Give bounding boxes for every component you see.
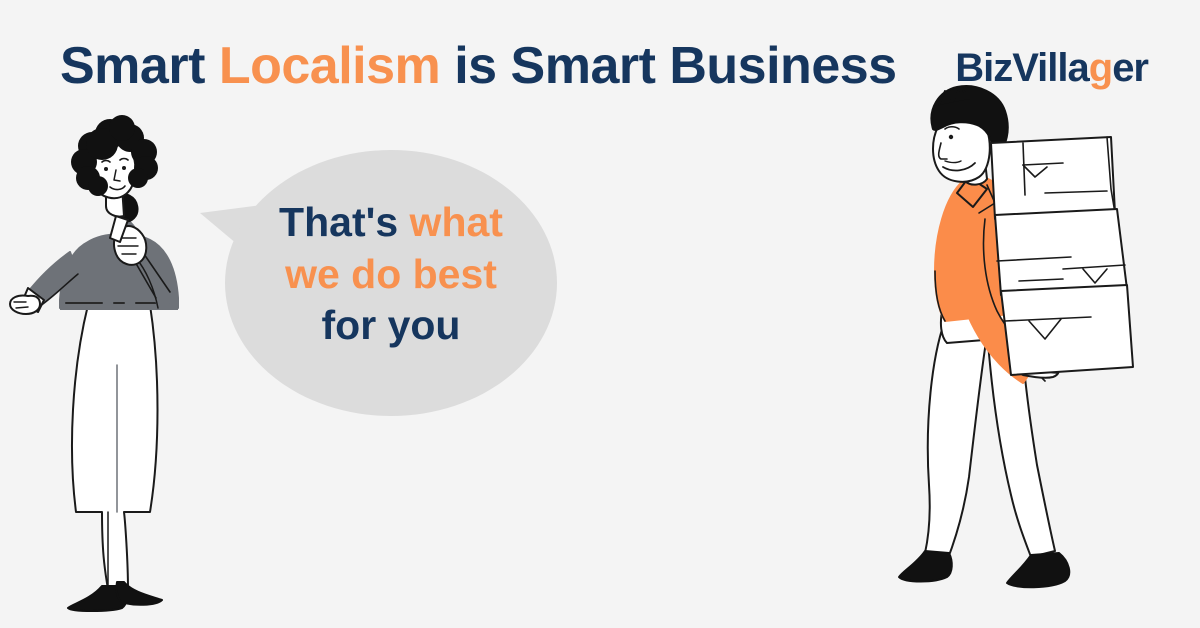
woman-svg [10, 120, 240, 610]
woman-open-hand [10, 295, 40, 314]
man-shoe-back [899, 551, 952, 582]
box-middle [995, 209, 1127, 295]
illustration-man-carrying-boxes [895, 85, 1145, 620]
speech-bubble-line-3: for you [225, 300, 557, 352]
woman-eye-right [122, 166, 126, 170]
speech-bubble-text: That's what we do best for you [225, 197, 557, 352]
speech-bubble-line-2: we do best [225, 249, 557, 301]
woman-trousers [72, 305, 158, 590]
speech-line1-navy: That's [279, 199, 410, 245]
headline-part-1: Smart [60, 37, 219, 95]
man-eye [949, 135, 953, 139]
marketing-banner: Smart Localism is Smart Business BizVill… [0, 0, 1200, 628]
speech-bubble: That's what we do best for you [200, 145, 565, 420]
illustration-woman-with-microphone [10, 120, 240, 610]
speech-bubble-line-1: That's what [225, 197, 557, 249]
headline-part-3: is Smart Business [440, 37, 896, 95]
logo-part-1: BizVilla [955, 46, 1089, 90]
man-shoe-front [1007, 553, 1069, 587]
box-bottom [1001, 285, 1133, 375]
logo-part-2-highlight: g [1089, 46, 1112, 90]
headline-part-2-highlight: Localism [219, 37, 440, 95]
woman-shoe-right [117, 582, 162, 605]
man-svg [895, 85, 1145, 620]
woman-eye-left [104, 167, 108, 171]
man-leg-back [925, 315, 987, 561]
box-top [991, 137, 1115, 219]
logo-part-3: er [1112, 46, 1148, 90]
page-title: Smart Localism is Smart Business [60, 38, 897, 95]
speech-line1-orange: what [410, 199, 503, 245]
